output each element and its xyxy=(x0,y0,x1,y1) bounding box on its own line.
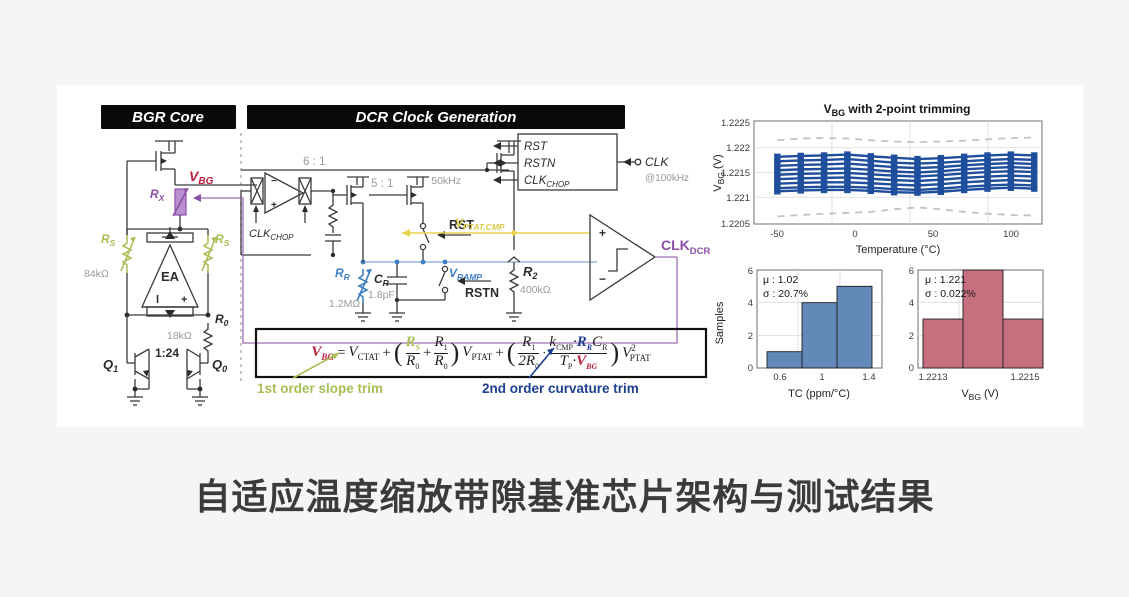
eq-equals: = xyxy=(337,345,345,362)
chart-vbg-ytick-3: 1.222 xyxy=(726,143,750,154)
clk-input-label: CLK xyxy=(645,155,669,169)
tc-ytick-0: 0 xyxy=(748,363,753,374)
gen-block-row-rst: RST xyxy=(524,141,548,153)
section-header-dcr-label: DCR Clock Generation xyxy=(356,109,517,126)
section-header-dcr: DCR Clock Generation xyxy=(247,105,625,129)
vbg-hist-ytick-2: 4 xyxy=(909,298,914,309)
tc-stat-sigma: σ : 20.7% xyxy=(763,288,808,300)
chart-vbg-marker xyxy=(1031,185,1037,191)
eq-plus2: + xyxy=(423,345,431,362)
chart-vbg-temperature: VBG with 2-point trimming 1.2205 1.221 1… xyxy=(712,102,1042,256)
rs-left-resistor: RS 84kΩ xyxy=(84,232,135,280)
eq-vbg: VBG xyxy=(311,344,334,362)
eq-frac-r1-r0: R1 R0 xyxy=(434,335,447,371)
vbg-bar-2 xyxy=(1003,319,1043,368)
chart-vbg-histogram: μ : 1.221 σ : 0.022% 0 2 4 6 1.2213 1.22… xyxy=(909,266,1043,402)
equation-content: VBG = VCTAT + ( RS R0 + R1 R0 ) VPTAT + … xyxy=(256,329,706,377)
chart-vbg-ylabel: VBG (V) xyxy=(712,154,726,191)
mirror-5to1-label: 5 : 1 xyxy=(371,178,393,190)
tc-xtick-0: 0.6 xyxy=(773,372,786,383)
dcr-schematic: 6 : 1 − + xyxy=(193,134,711,343)
tc-bar-1 xyxy=(802,303,837,368)
rs-left-value: 84kΩ xyxy=(84,268,109,280)
chart-tc-histogram: μ : 1.02 σ : 20.7% 0 2 4 6 0.6 1 1.4 TC … xyxy=(748,266,882,400)
vbg-bar-0 xyxy=(923,319,963,368)
bgr-core-schematic: VBG RX RS 84kΩ xyxy=(84,141,257,405)
chart-vbg-title: VBG with 2-point trimming xyxy=(824,102,971,118)
section-header-bgr-core: BGR Core xyxy=(101,105,236,129)
chart-vbg-envelope xyxy=(777,207,1034,216)
ea-plus: + xyxy=(181,294,187,306)
vbg-hist-ytick-3: 6 xyxy=(909,266,914,277)
eq-paren-open-2: ( xyxy=(507,338,516,368)
tc-xlabel: TC (ppm/°C) xyxy=(788,388,850,400)
cr-label: CR xyxy=(374,272,390,288)
chart-vbg-marker xyxy=(774,188,780,194)
chart-vbg-ytick-0: 1.2205 xyxy=(721,219,750,230)
eq-plus3: + xyxy=(495,345,503,362)
chart-vbg-marker xyxy=(938,189,944,195)
chop-amp-minus: − xyxy=(271,176,277,187)
chart-vbg-xtick-2: 50 xyxy=(928,229,939,240)
vbg-hist-ytick-1: 2 xyxy=(909,331,914,342)
rr-label: RR xyxy=(335,266,351,282)
chart-vbg-ytick-1: 1.221 xyxy=(726,193,750,204)
bjt-ratio-label: 1:24 xyxy=(155,346,179,360)
chart-vbg-marker xyxy=(1008,185,1014,191)
output-freq-label: 50kHz xyxy=(431,175,461,187)
chopper-amplifier: − + CLKCHOP xyxy=(249,173,311,242)
chart-vbg-envelope xyxy=(777,138,1034,142)
ea-label: EA xyxy=(161,269,180,284)
vbg-stat-mu: μ : 1.221 xyxy=(925,274,966,286)
comparator: + − xyxy=(590,215,655,300)
eq-frac-rs-r0: RS R0 xyxy=(406,335,420,371)
annotation-second-order: 2nd order curvature trim xyxy=(482,381,639,396)
q0-label: Q0 xyxy=(212,357,227,374)
eq-vctat: VCTAT xyxy=(348,344,379,362)
eq-paren-close-2: ) xyxy=(610,338,619,368)
annotation-first-order: 1st order slope trim xyxy=(257,381,383,396)
vbg-hist-xtick-1: 1.2215 xyxy=(1010,372,1039,383)
tc-ytick-1: 2 xyxy=(748,331,753,342)
rs-left-label: RS xyxy=(101,232,116,248)
q0-transistor: Q0 xyxy=(187,349,227,405)
figure-panel: BGR Core DCR Clock Generation xyxy=(57,85,1083,427)
chart-vbg-marker xyxy=(821,187,827,193)
chart-vbg-series-group xyxy=(774,138,1037,217)
eq-paren-open-1: ( xyxy=(394,338,403,368)
eq-paren-close-1: ) xyxy=(451,338,460,368)
rx-resistor: RX xyxy=(150,187,188,216)
eq-frac-kcmp: kCMP·RRCR TP·VBG xyxy=(549,335,607,371)
rr-resistor: RR 1.2MΩ xyxy=(329,255,371,321)
clock-gen-block: RST RSTN CLKCHOP 50kHz CLK @100kHz xyxy=(431,134,689,190)
rx-label: RX xyxy=(150,187,166,203)
tc-xtick-1: 1 xyxy=(819,372,824,383)
rs-right-resistor: RS xyxy=(202,232,230,273)
section-header-bgr-core-label: BGR Core xyxy=(132,109,204,126)
error-amplifier: EA l + xyxy=(142,227,198,318)
vbg-hist-xtick-0: 1.2213 xyxy=(918,372,947,383)
q1-label: Q1 xyxy=(103,357,118,374)
chart-vbg-marker xyxy=(961,187,967,193)
tc-bar-2 xyxy=(837,286,872,368)
chart-vbg-xlabel: Temperature (°C) xyxy=(856,244,940,256)
rr-value: 1.2MΩ xyxy=(329,298,360,310)
chart-vbg-xtick-3: 100 xyxy=(1003,229,1019,240)
tc-stat-mu: μ : 1.02 xyxy=(763,274,798,286)
clk-chop-label: CLKCHOP xyxy=(249,228,294,242)
eq-dot: · xyxy=(542,345,546,361)
vbg-label: VBG xyxy=(189,168,214,187)
r0-label: R0 xyxy=(215,312,229,328)
vbg-bar-1 xyxy=(963,270,1003,368)
chart-vbg-xtick-1: 0 xyxy=(852,229,857,240)
clk-dcr-label: CLKDCR xyxy=(661,237,711,257)
tc-xtick-2: 1.4 xyxy=(862,372,875,383)
tc-bar-0 xyxy=(767,352,802,368)
chart-vbg-marker xyxy=(798,187,804,193)
r2-resistor: R2 400kΩ xyxy=(506,262,551,321)
cr-value: 1.8pF xyxy=(368,289,395,301)
cr-capacitor: CR 1.8pF xyxy=(368,262,407,321)
eq-vptat-1: VPTAT xyxy=(462,344,492,362)
chart-vbg-xtick-0: -50 xyxy=(770,229,784,240)
vramp-label: VRAMP xyxy=(449,266,482,282)
tc-ytick-3: 6 xyxy=(748,266,753,277)
gen-block-row-rstn: RSTN xyxy=(524,158,556,170)
q1-transistor: Q1 xyxy=(103,315,149,405)
chart-vbg-marker xyxy=(984,185,990,191)
clk-input-freq: @100kHz xyxy=(645,173,689,184)
r2-value: 400kΩ xyxy=(520,284,551,296)
chart-vbg-line xyxy=(777,155,1034,159)
comparator-minus: − xyxy=(599,272,606,286)
chart-vbg-marker xyxy=(914,189,920,195)
tc-ytick-2: 4 xyxy=(748,298,753,309)
vptat-cmp-label: VPTAT,CMP xyxy=(455,216,505,232)
r0-value: 18kΩ xyxy=(167,330,192,342)
vbg-stat-sigma: σ : 0.022% xyxy=(925,288,976,300)
chop-amp-plus: + xyxy=(271,200,277,211)
mirror-6to1-label: 6 : 1 xyxy=(303,156,325,168)
rstn-label: RSTN xyxy=(465,286,499,300)
vbg-hist-ytick-0: 0 xyxy=(909,363,914,374)
vbg-hist-xlabel: VBG (V) xyxy=(961,388,998,402)
chart-vbg-marker xyxy=(844,187,850,193)
eq-vptat-2: V2PTAT xyxy=(622,343,650,363)
r2-label: R2 xyxy=(523,264,537,281)
histogram-ylabel: Samples xyxy=(714,301,726,344)
chart-vbg-marker xyxy=(891,189,897,195)
compensation-rc xyxy=(325,191,341,257)
pmos-mirror-5to1: 5 : 1 xyxy=(333,177,429,255)
eq-plus1: + xyxy=(382,345,390,362)
comparator-plus: + xyxy=(599,226,606,240)
chart-vbg-ytick-4: 1.2225 xyxy=(721,118,750,129)
chart-vbg-marker xyxy=(868,188,874,194)
rs-right-label: RS xyxy=(215,232,230,248)
gen-block-row-clkchop: CLKCHOP xyxy=(524,175,570,189)
eq-frac-r1-2r0: R1 2R0 xyxy=(518,335,539,371)
slide-title: 自适应温度缩放带隙基准芯片架构与测试结果 xyxy=(0,468,1129,520)
ea-minus: l xyxy=(156,294,159,306)
